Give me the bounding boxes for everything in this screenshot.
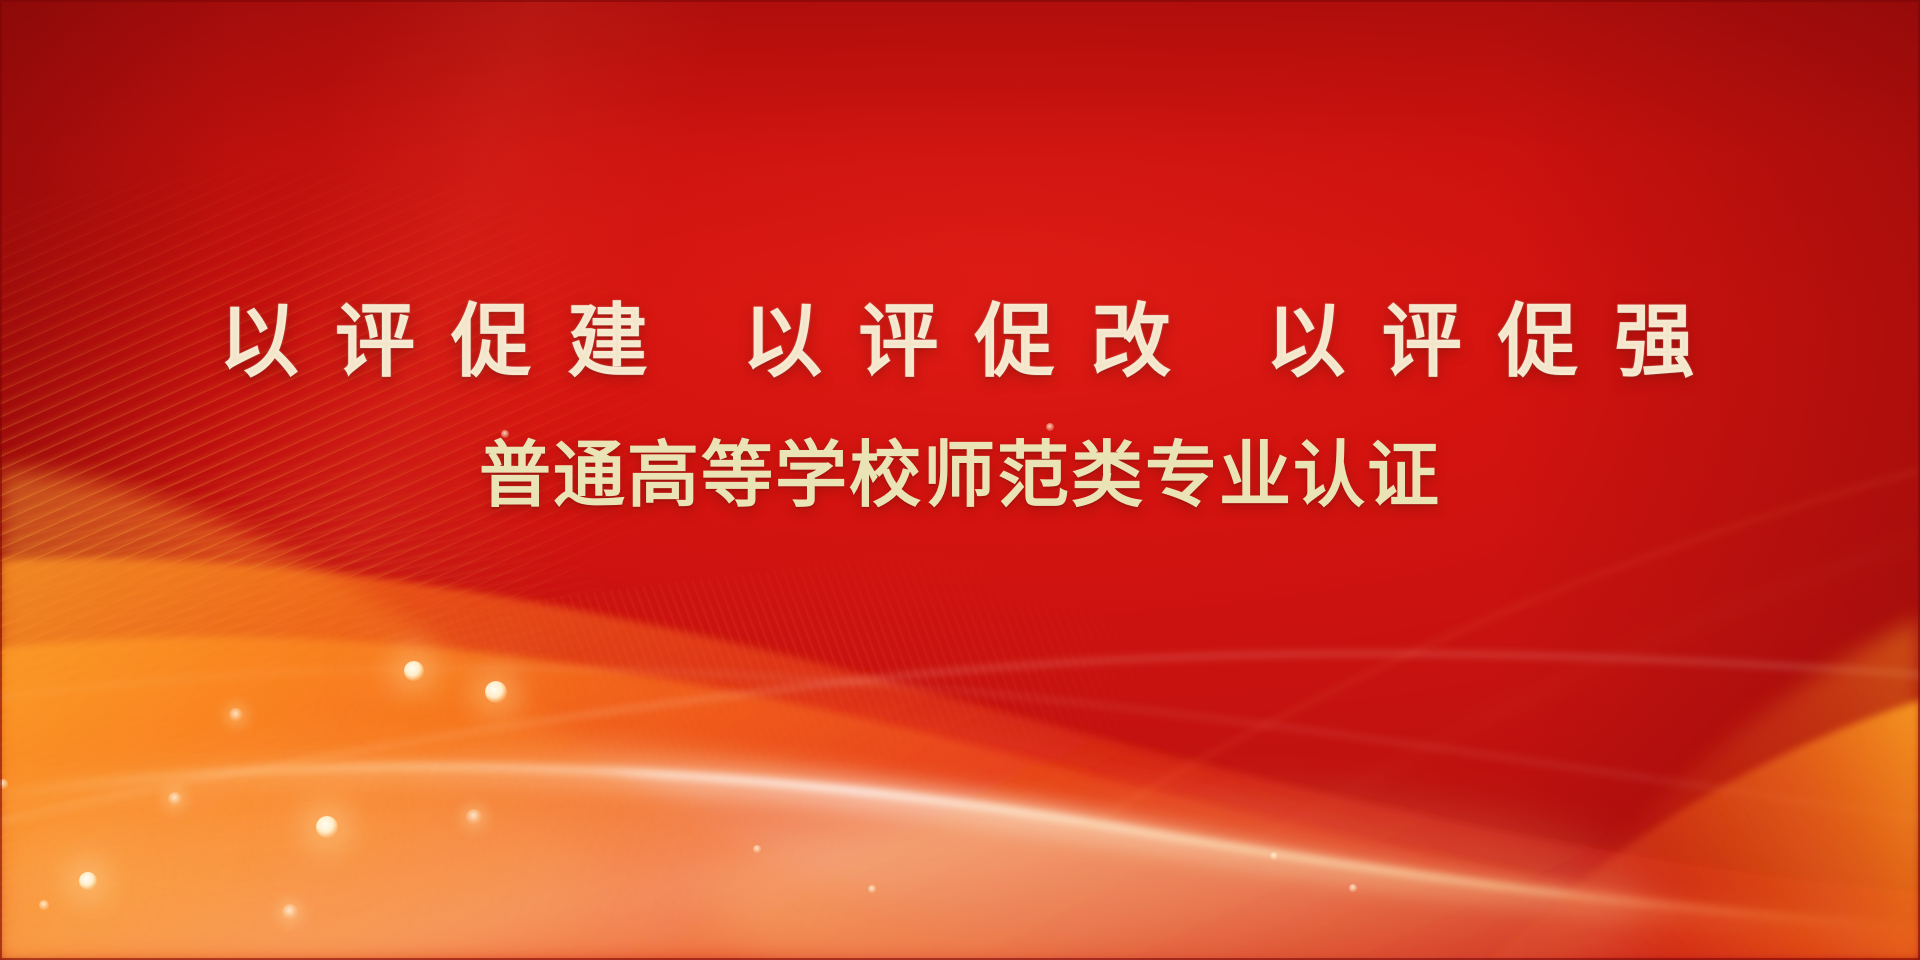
banner-poster: 以 评 促 建 以 评 促 改 以 评 促 强 普通高等学校师范类专业认证 xyxy=(0,0,1920,960)
poster-edge-frame xyxy=(0,0,1920,960)
